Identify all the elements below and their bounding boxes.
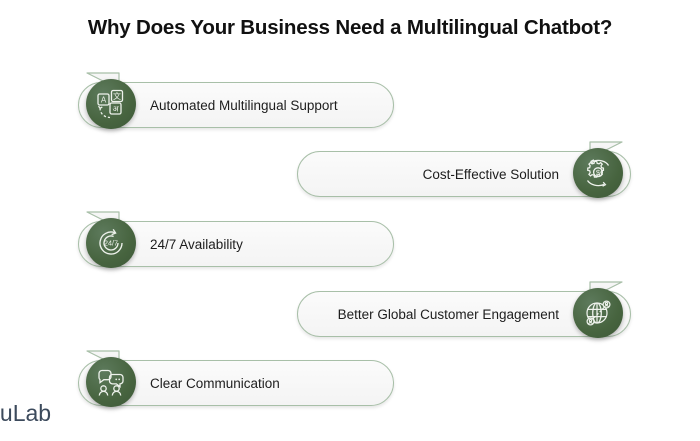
- infographic-container: Why Does Your Business Need a Multilingu…: [0, 0, 700, 441]
- infographic-card[interactable]: Clear Communication: [78, 350, 394, 406]
- svg-text:文: 文: [113, 91, 121, 101]
- svg-text:अ: अ: [112, 104, 119, 113]
- svg-text:24/7: 24/7: [104, 239, 118, 248]
- infographic-card[interactable]: Better Global Customer Engagement: [297, 281, 631, 337]
- svg-text:A: A: [101, 95, 107, 104]
- chat-people-icon: [86, 357, 136, 407]
- card-label: Better Global Customer Engagement: [311, 291, 559, 337]
- infographic-card[interactable]: 24/7 24/7 Availability: [78, 211, 394, 267]
- infographic-card[interactable]: A 文 अ Automated Multilingual Support: [78, 72, 394, 128]
- card-label: 24/7 Availability: [150, 221, 380, 267]
- translate-languages-icon: A 文 अ: [86, 79, 136, 129]
- watermark-logo-text: oluLab: [0, 400, 51, 427]
- page-title: Why Does Your Business Need a Multilingu…: [0, 16, 700, 40]
- card-label: Clear Communication: [150, 360, 380, 406]
- gear-dollar-icon: $: [573, 148, 623, 198]
- infographic-card[interactable]: $ Cost-Effective Solution: [297, 141, 631, 197]
- card-label: Cost-Effective Solution: [311, 151, 559, 197]
- 24-7-clock-icon: 24/7: [86, 218, 136, 268]
- globe-network-icon: [573, 288, 623, 338]
- card-label: Automated Multilingual Support: [150, 82, 380, 128]
